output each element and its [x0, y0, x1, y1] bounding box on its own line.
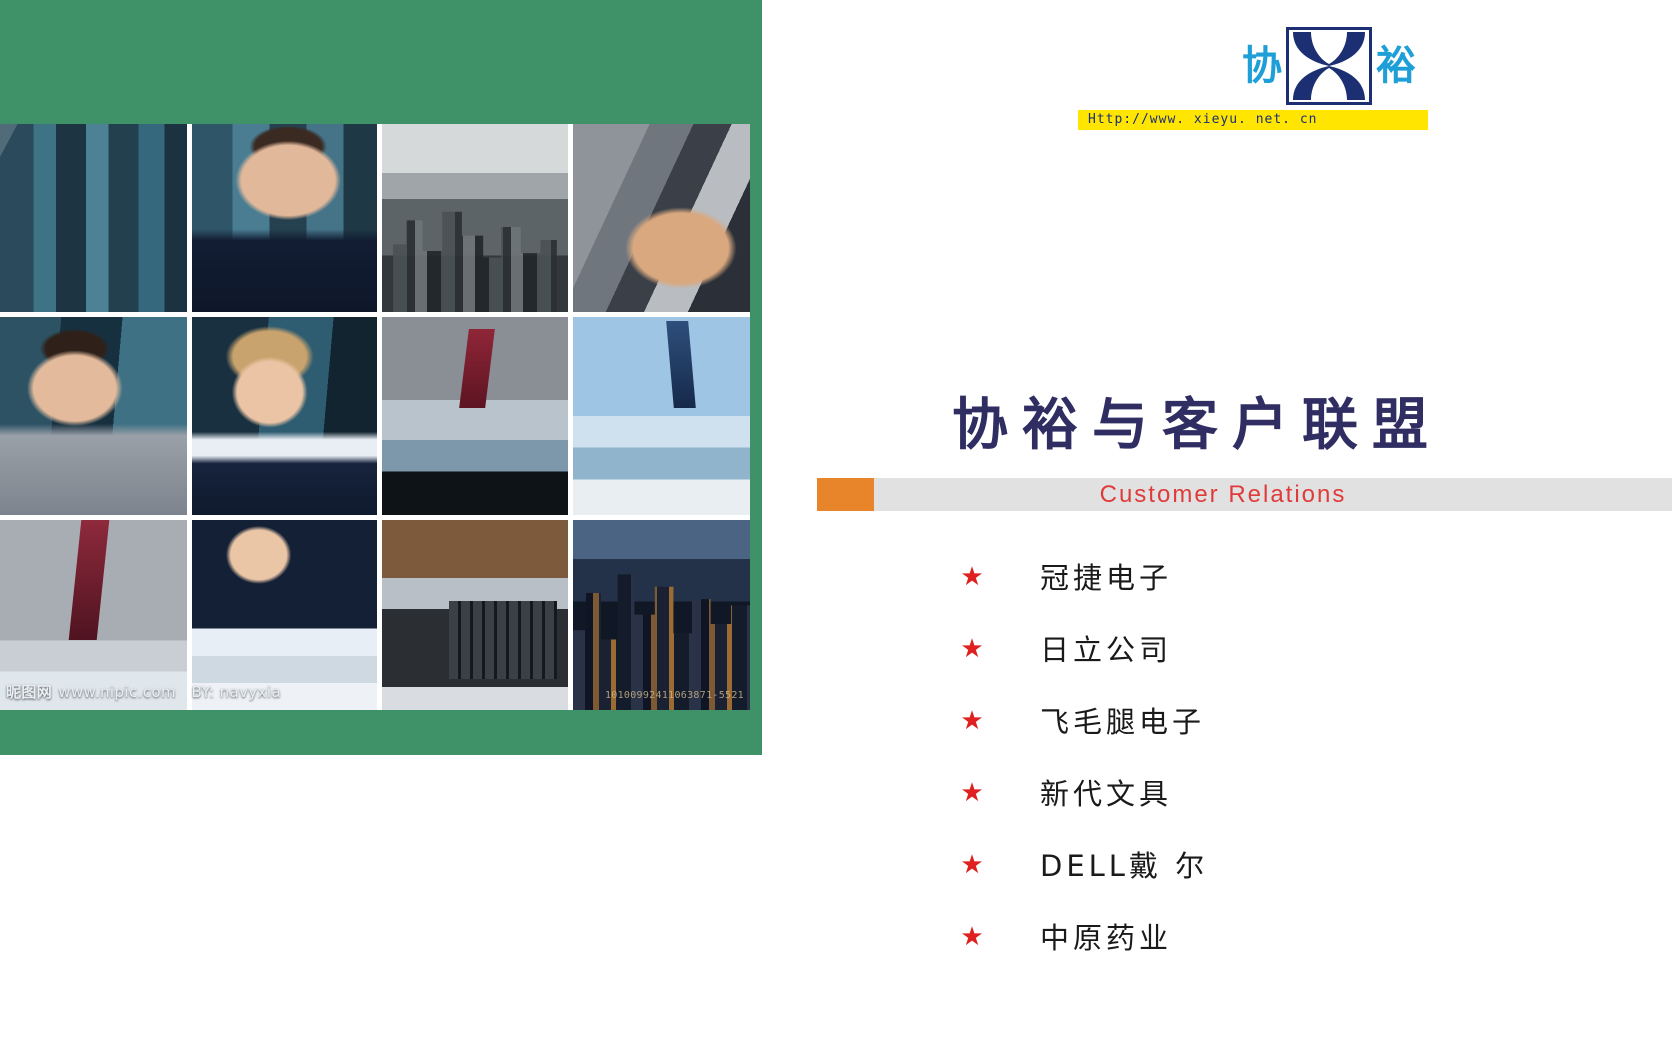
collage-tile-smiling-businessman-grey-suit [0, 317, 187, 515]
star-icon: ★ [952, 707, 992, 733]
subtitle-bar: Customer Relations [817, 478, 1672, 511]
client-name: 新代文具 [1040, 771, 1172, 813]
watermark-author: BY: navyxia [192, 683, 282, 701]
client-list-item[interactable]: ★ 飞毛腿电子 [762, 684, 1672, 756]
slide-subtitle: Customer Relations [874, 481, 1672, 509]
client-list-item[interactable]: ★ 冠捷电子 [762, 540, 1672, 612]
client-list-item[interactable]: ★ 新代文具 [762, 756, 1672, 828]
star-icon: ★ [952, 563, 992, 589]
right-content-panel: 协 裕 Http://www. xieyu. net. cn 协裕与客户联盟 C… [762, 0, 1672, 1043]
logo-website-url: Http://www. xieyu. net. cn [1078, 110, 1428, 130]
client-list: ★ 冠捷电子 ★ 日立公司 ★ 飞毛腿电子 ★ 新代文具 ★ DELL戴 尔 ★… [762, 540, 1672, 972]
xieyu-emblem-icon [1286, 27, 1372, 105]
watermark-site-url: www.nipic.com [58, 683, 176, 701]
collage-tile-city-skyline-black-white [382, 124, 568, 312]
star-icon: ★ [952, 923, 992, 949]
collage-tile-meeting-men-at-laptop [382, 317, 568, 515]
nipic-watermark: 昵图网www.nipic.com BY: navyxia [6, 681, 281, 702]
slide-title: 协裕与客户联盟 [762, 395, 1672, 457]
client-list-item[interactable]: ★ 中原药业 [762, 900, 1672, 972]
star-icon: ★ [952, 779, 992, 805]
logo-char-right: 裕 [1376, 46, 1416, 86]
left-image-panel: 昵图网www.nipic.com BY: navyxia 10100992411… [0, 0, 762, 755]
client-name: 日立公司 [1040, 627, 1172, 669]
nipic-watermark-id: 10100992411063871-5521 [605, 690, 744, 701]
collage-tile-meeting-man-signing-document [573, 317, 750, 515]
client-name: 冠捷电子 [1040, 555, 1172, 597]
client-list-item[interactable]: ★ DELL戴 尔 [762, 828, 1672, 900]
logo-char-left: 协 [1242, 46, 1282, 86]
subtitle-accent-block [817, 478, 874, 511]
client-name: 中原药业 [1040, 915, 1172, 957]
collage-tile-smiling-businessman-portrait [192, 124, 377, 312]
company-logo: 协 裕 Http://www. xieyu. net. cn [1224, 22, 1434, 130]
collage-tile-hands-on-laptop-keyboard [382, 520, 568, 710]
collage-tile-office-glass-building [0, 124, 187, 312]
client-list-item[interactable]: ★ 日立公司 [762, 612, 1672, 684]
collage-tile-city-skyline-at-dusk [573, 520, 750, 710]
star-icon: ★ [952, 635, 992, 661]
client-name: DELL戴 尔 [1040, 843, 1208, 885]
photo-collage: 昵图网www.nipic.com BY: navyxia 10100992411… [0, 124, 750, 710]
client-name: 飞毛腿电子 [1040, 699, 1205, 741]
star-icon: ★ [952, 851, 992, 877]
collage-tile-business-handshake [573, 124, 750, 312]
collage-tile-businesswoman-portrait [192, 317, 377, 515]
watermark-site-name-cn: 昵图网 [6, 683, 52, 701]
logo-marks: 协 裕 [1224, 22, 1434, 110]
